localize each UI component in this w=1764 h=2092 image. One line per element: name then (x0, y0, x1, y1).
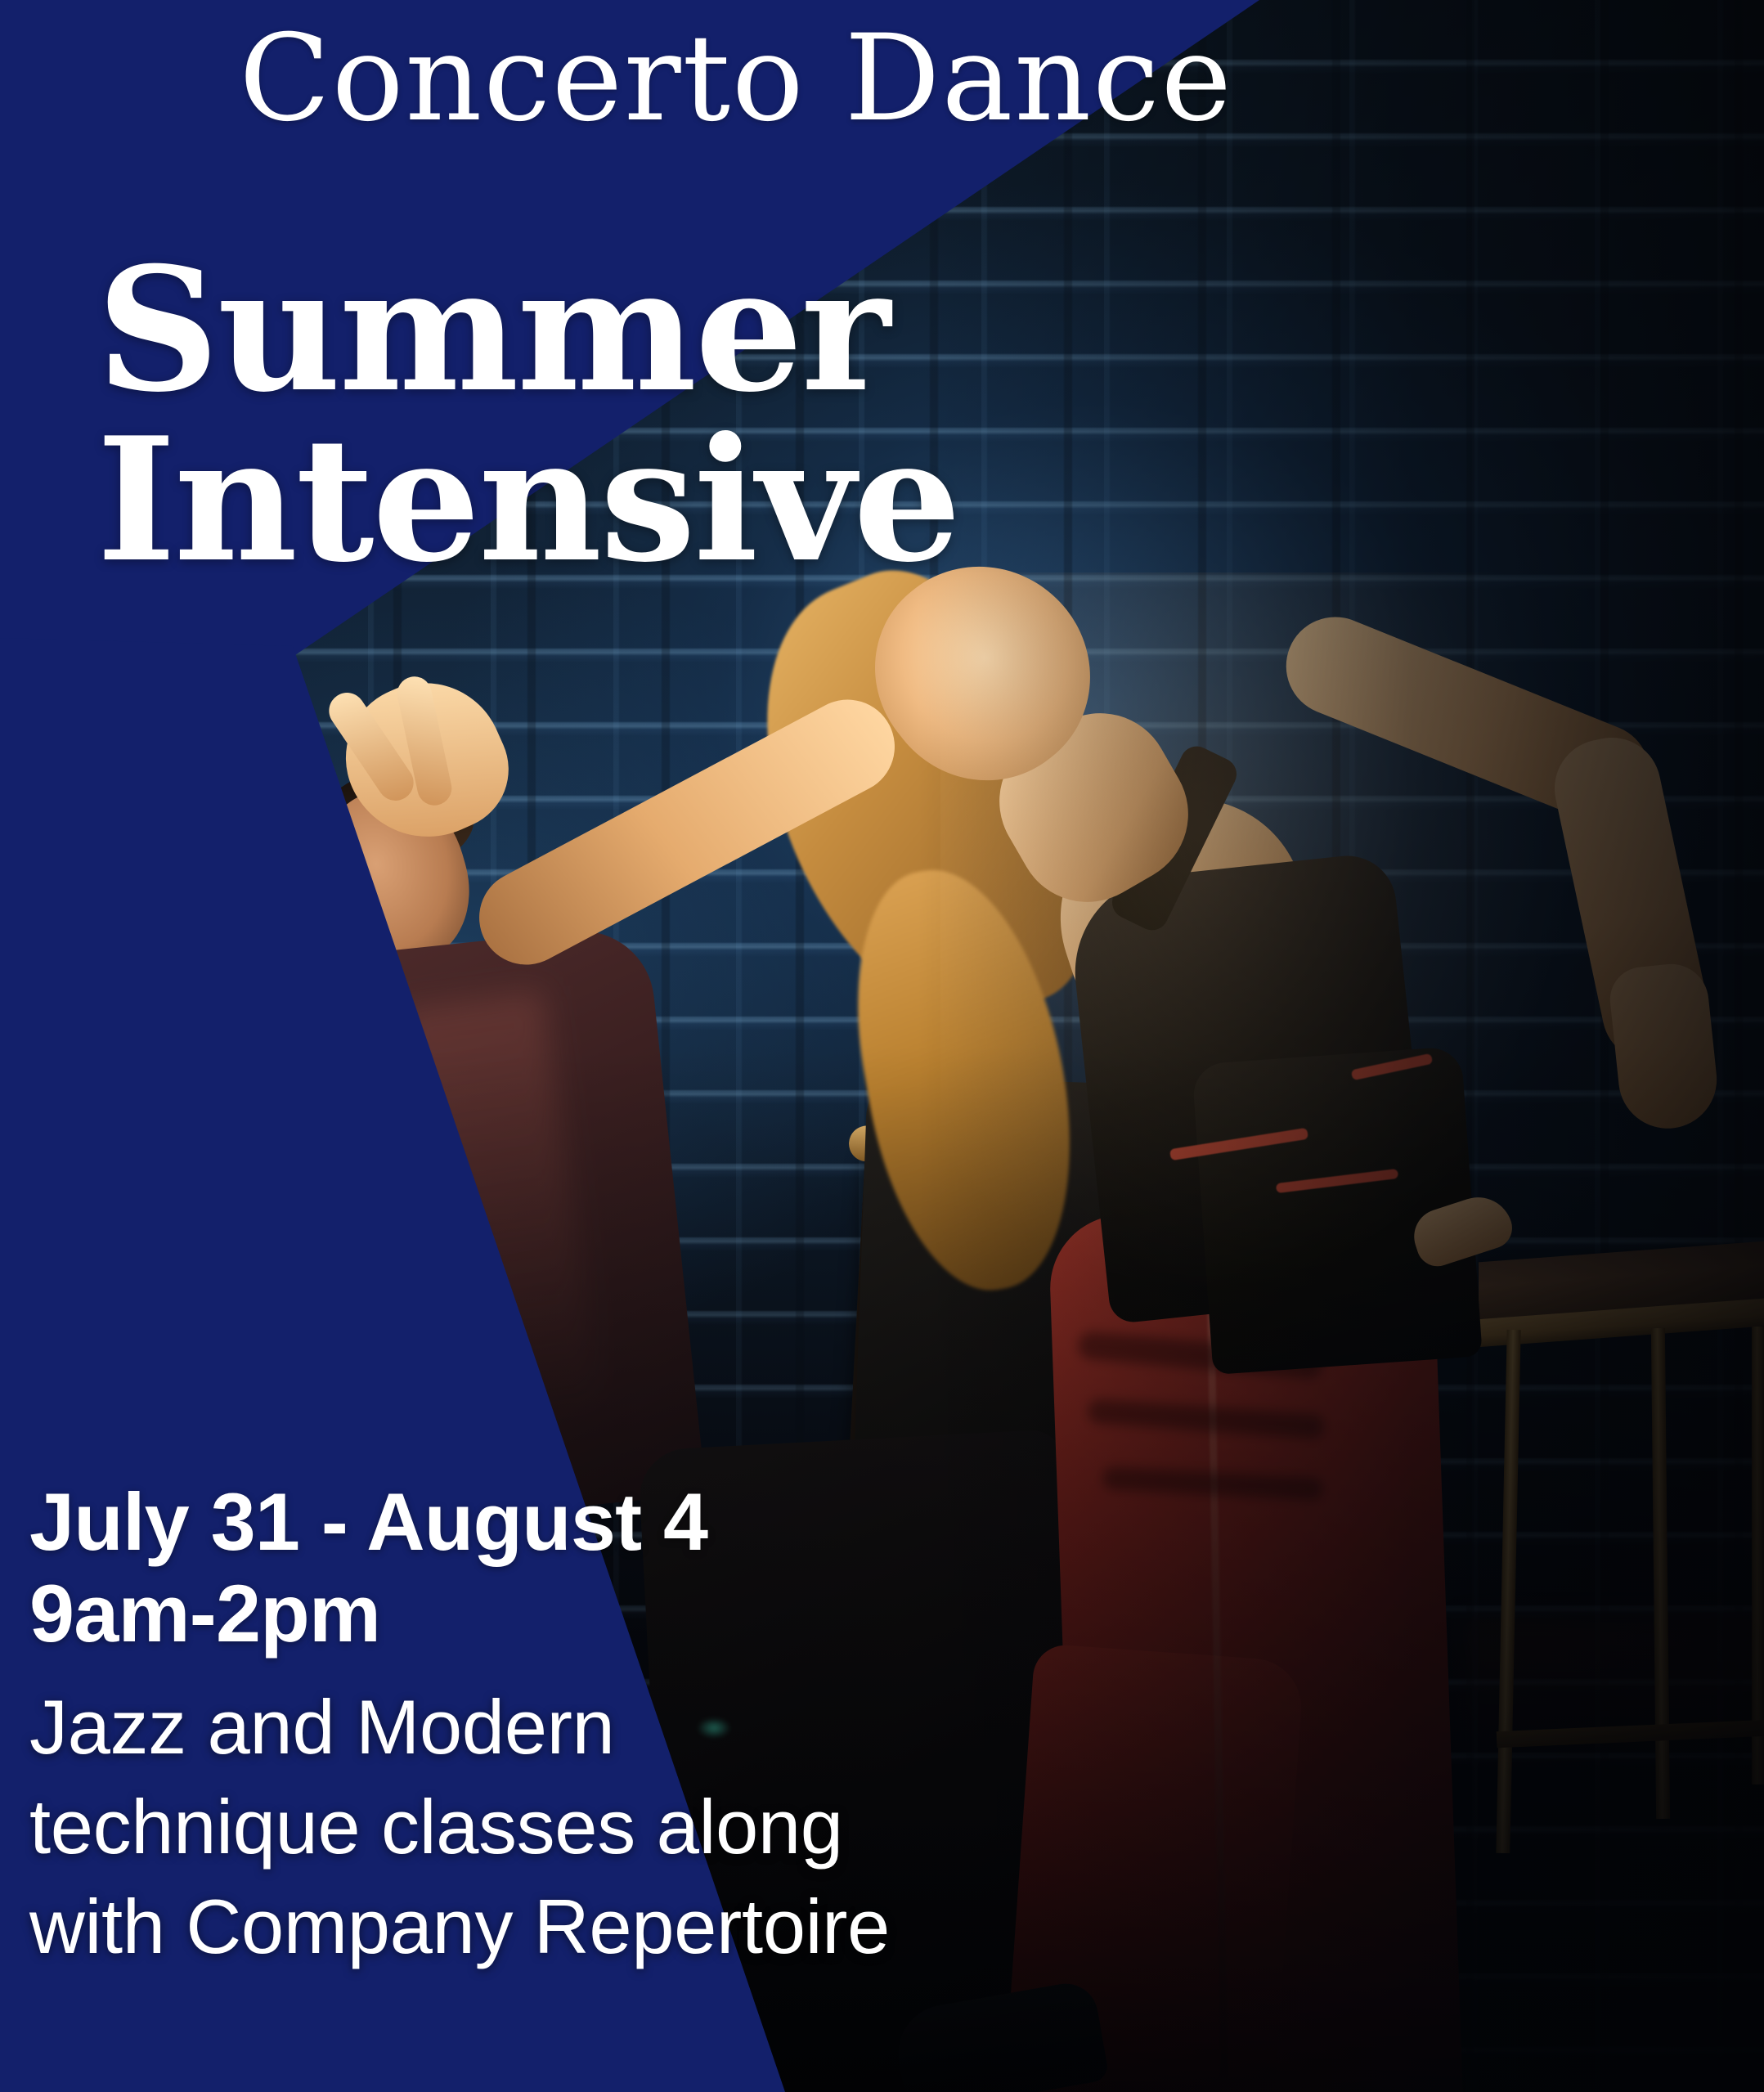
event-times: 9am-2pm (29, 1568, 1125, 1659)
event-description-line-2: technique classes along (29, 1777, 1125, 1877)
event-description-line-3: with Company Repertoire (29, 1877, 1125, 1977)
event-details-block: July 31 - August 4 9am-2pm Jazz and Mode… (29, 1476, 1125, 1977)
event-dates: July 31 - August 4 (29, 1476, 1125, 1568)
event-description-line-1: Jazz and Modern (29, 1677, 1125, 1777)
brand-title: Concerto Dance (0, 18, 1472, 140)
page-title: Summer Intensive (97, 245, 1764, 586)
poster-canvas: Concerto Dance Summer Intensive July 31 … (0, 0, 1764, 2092)
